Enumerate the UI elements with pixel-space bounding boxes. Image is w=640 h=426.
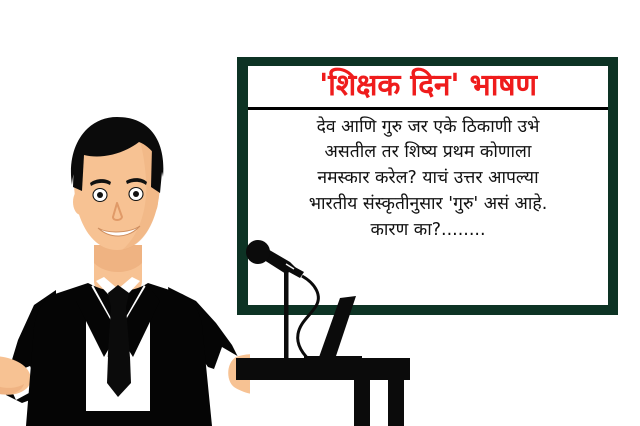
board-body-line: भारतीय संस्कृतीनुसार 'गुरु' असं आहे. xyxy=(254,192,602,218)
title-divider xyxy=(248,107,608,110)
desk-leg-right xyxy=(354,376,370,426)
mic-stand-pole xyxy=(284,264,289,360)
left-pupil xyxy=(97,192,103,198)
stage-props xyxy=(230,240,490,426)
mic-cable xyxy=(298,276,319,364)
desk-leg-right-outer xyxy=(388,376,404,426)
desk-top xyxy=(236,358,410,380)
mic-head xyxy=(246,240,270,264)
right-pupil xyxy=(133,191,139,197)
board-body-line: असतील तर शिष्य प्रथम कोणाला xyxy=(254,140,602,166)
board-body-line: नमस्कार करेल? याचं उत्तर आपल्या xyxy=(254,166,602,192)
board-body-line: देव आणि गुरु जर एके ठिकाणी उभे xyxy=(254,115,602,141)
board-title: 'शिक्षक दिन' भाषण xyxy=(248,66,608,106)
poster-canvas: 'शिक्षक दिन' भाषण देव आणि गुरु जर एके ठि… xyxy=(0,0,640,426)
presenter-illustration xyxy=(0,95,250,426)
presenter-description: Cartoon man in black suit, white shirt a… xyxy=(0,0,1,1)
laptop-screen xyxy=(318,296,356,362)
